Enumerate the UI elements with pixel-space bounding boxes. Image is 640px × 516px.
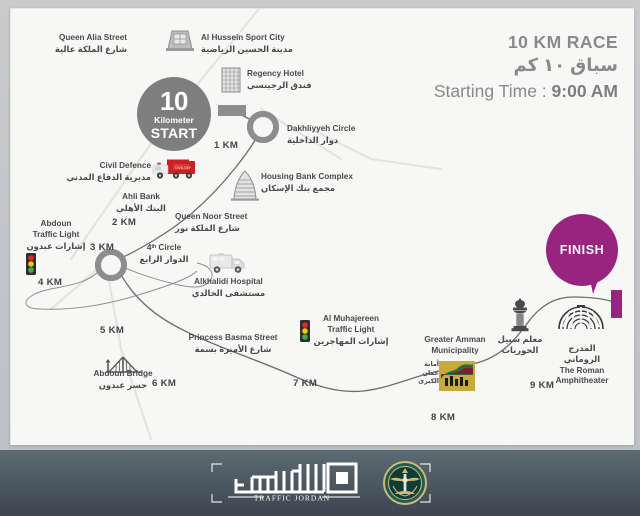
footer-bar: TRAFFIC JORDAN [0,450,640,516]
start-time-value: 9:00 AM [552,81,618,101]
poi-label-ar: دوار الداخلية [287,135,355,146]
poi-regency-hotel: Regency Hotel فندق الرجينسي [247,69,312,91]
poi-label-en: Greater Amman [409,335,501,346]
start-bubble-circle: 10 Kilometer START [137,77,211,151]
poi-label-en2: Municipality [409,346,501,357]
poi-gam-arabic: أمانة عمان الكبرى [407,361,439,387]
poi-label-en2: Amphitheater [548,376,616,387]
km-marker-6: 6 KM [152,378,176,389]
svg-text:CIVIL DEF: CIVIL DEF [175,166,191,170]
footer-corner-brackets [210,462,432,504]
traffic-light-icon [25,252,37,278]
poi-label-ar: مستشفى الخالدي [176,288,281,299]
poi-greater-amman-municipality: Greater Amman Municipality [409,335,501,357]
map-panel: 10 Kilometer START FINISH 10 KM RACE سبا… [10,8,634,445]
race-title-block: 10 KM RACE سباق ١٠ كم Starting Time : 9:… [434,31,618,103]
race-route-poster: 10 Kilometer START FINISH 10 KM RACE سبا… [0,0,640,516]
housing-bank-icon [230,169,260,201]
finish-bubble-circle: FINISH [546,214,618,286]
start-time-row: Starting Time : 9:00 AM [434,80,618,102]
race-title: 10 KM RACE [434,31,618,53]
gam-logo-icon [439,361,475,391]
km-marker-5: 5 KM [100,325,124,336]
start-line-marker [218,105,246,116]
km-marker-4: 4 KM [38,277,62,288]
poi-label-ar: شارع الملكة عالية [17,44,127,55]
poi-label-en: Civil Defence [59,161,151,172]
traffic-light-icon [299,319,311,345]
km-marker-3: 3 KM [90,242,114,253]
start-time-label: Starting Time : [434,81,547,101]
poi-label-ar: مجمع بنك الإسكان [261,183,353,194]
km-marker-8: 8 KM [431,412,455,423]
amphitheater-icon [557,305,605,331]
poi-queen-noor-street: Queen Noor Street شارع الملكة نور [175,212,247,234]
finish-bubble-tail [587,264,604,294]
poi-fourth-circle: 4ᵗʰ Circle الدوار الرابع [133,243,195,265]
poi-label-ar2: الحوريات [489,345,551,356]
poi-label-ar: شارع الملكة نور [175,223,247,234]
fire-truck-icon: CIVIL DEF [151,157,199,181]
poi-label-en1: The Roman [548,366,616,377]
poi-roman-amphitheater: المدرج الروماني The Roman Amphitheater [548,343,616,387]
km-marker-2: 2 KM [112,217,136,228]
poi-dakhliyyeh-circle: Dakhliyyeh Circle دوار الداخلية [287,124,355,146]
poi-label-ar: مدينة الحسين الرياضية [201,44,293,55]
hotel-building-icon [220,66,242,94]
poi-label-en: Al Hussein Sport City [201,33,293,44]
monument-icon [507,297,533,333]
poi-label-ar: إشارات عبدون [23,241,89,252]
poi-label-en: Ahli Bank [111,192,171,203]
km-marker-1: 1 KM [214,140,238,151]
poi-label-ar2: عمان [407,370,439,379]
finish-label: FINISH [560,243,605,257]
stadium-icon [163,27,197,53]
poi-civil-defence: Civil Defence مديرية الدفاع المدني [59,161,151,183]
poi-queen-alia-street: Queen Alia Street شارع الملكة عالية [17,33,127,55]
poi-label-ar: إشارات المهاجرين [311,336,391,347]
poi-label-en: Al Muhajereen [311,314,391,325]
poi-sabeel-al-hourriyat: معلم سبيل الحوريات [489,334,551,357]
poi-label-ar: الدوار الرابع [133,254,195,265]
poi-label-en: Alkhalidi Hospital [176,277,281,288]
poi-label-ar1: المدرج [548,343,616,354]
poi-label-en2: Traffic Light [23,230,89,241]
poi-label-en: Princess Basma Street [173,333,293,344]
start-distance: 10 [160,88,188,114]
poi-label-en: 4ᵗʰ Circle [133,243,195,254]
start-word: START [151,126,198,140]
poi-ahli-bank: Ahli Bank البنك الأهلي [111,192,171,214]
poi-al-hussein-sport-city: Al Hussein Sport City مدينة الحسين الريا… [201,33,293,55]
poi-alkhalidi-hospital: Alkhalidi Hospital مستشفى الخالدي [176,277,281,299]
poi-label-en: Abdoun [23,219,89,230]
finish-marker: FINISH [546,214,618,286]
poi-label-ar3: الكبرى [407,378,439,387]
poi-label-en: Queen Alia Street [17,33,127,44]
ambulance-icon [208,252,248,274]
poi-abdoun-traffic-light: Abdoun Traffic Light إشارات عبدون [23,219,89,252]
poi-label-ar: مديرية الدفاع المدني [59,172,151,183]
poi-label-ar1: أمانة [407,361,439,370]
poi-label-ar: البنك الأهلي [111,203,171,214]
poi-label-ar2: الروماني [548,354,616,365]
poi-label-en: Regency Hotel [247,69,312,80]
poi-label-en: Dakhliyyeh Circle [287,124,355,135]
finish-line-marker [611,290,622,318]
poi-label-en: Housing Bank Complex [261,172,353,183]
km-marker-7: 7 KM [293,378,317,389]
poi-label-en: Queen Noor Street [175,212,247,223]
poi-princess-basma-street: Princess Basma Street شارع الأميرة بسمة [173,333,293,355]
start-unit: Kilometer [154,116,194,125]
poi-al-muhajereen-traffic-light: Al Muhajereen Traffic Light إشارات المها… [311,314,391,347]
poi-label-ar1: معلم سبيل [489,334,551,345]
race-title-ar: سباق ١٠ كم [434,54,618,77]
km-marker-9: 9 KM [530,380,554,391]
poi-label-ar: فندق الرجينسي [247,80,312,91]
poi-housing-bank-complex: Housing Bank Complex مجمع بنك الإسكان [261,172,353,194]
poi-label-ar: شارع الأميرة بسمة [173,344,293,355]
start-marker: 10 Kilometer START [137,77,211,151]
poi-label-en2: Traffic Light [311,325,391,336]
footer-branding: TRAFFIC JORDAN [212,459,428,507]
